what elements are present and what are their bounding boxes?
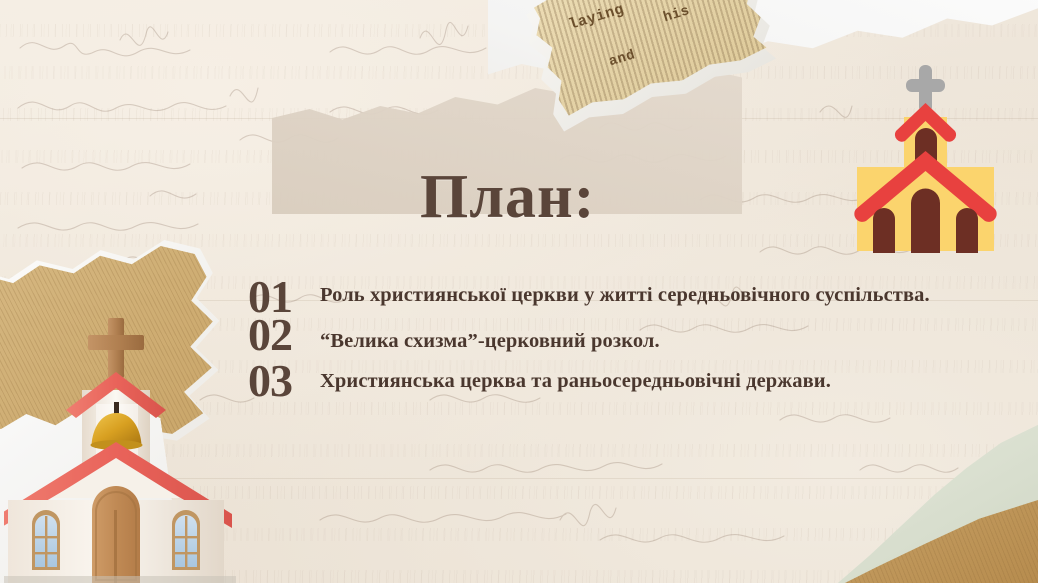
plan-list: 01 Роль християнської церкви у житті сер…	[248, 268, 948, 404]
slide-canvas: turne laying his and	[0, 0, 1038, 583]
church-icon	[843, 63, 1008, 253]
list-item-text: “Велика схизма”-церковний розкол.	[320, 326, 660, 356]
list-item: 02 “Велика схизма”-церковний розкол.	[248, 316, 948, 358]
list-item-text: Християнська церква та раньосередньовічн…	[320, 366, 831, 396]
page-title: План:	[420, 166, 595, 228]
church-with-bell-icon	[4, 318, 236, 583]
list-item: 03 Християнська церква та раньосередньов…	[248, 354, 948, 404]
newspaper-word: and	[607, 47, 637, 70]
newspaper-word: his	[662, 3, 692, 26]
list-item: 01 Роль християнської церкви у житті сер…	[248, 268, 948, 320]
list-item-text: Роль християнської церкви у житті середн…	[320, 280, 930, 310]
list-item-number: 02	[248, 312, 320, 358]
newspaper-word: laying	[567, 1, 626, 34]
list-item-number: 03	[248, 358, 320, 404]
